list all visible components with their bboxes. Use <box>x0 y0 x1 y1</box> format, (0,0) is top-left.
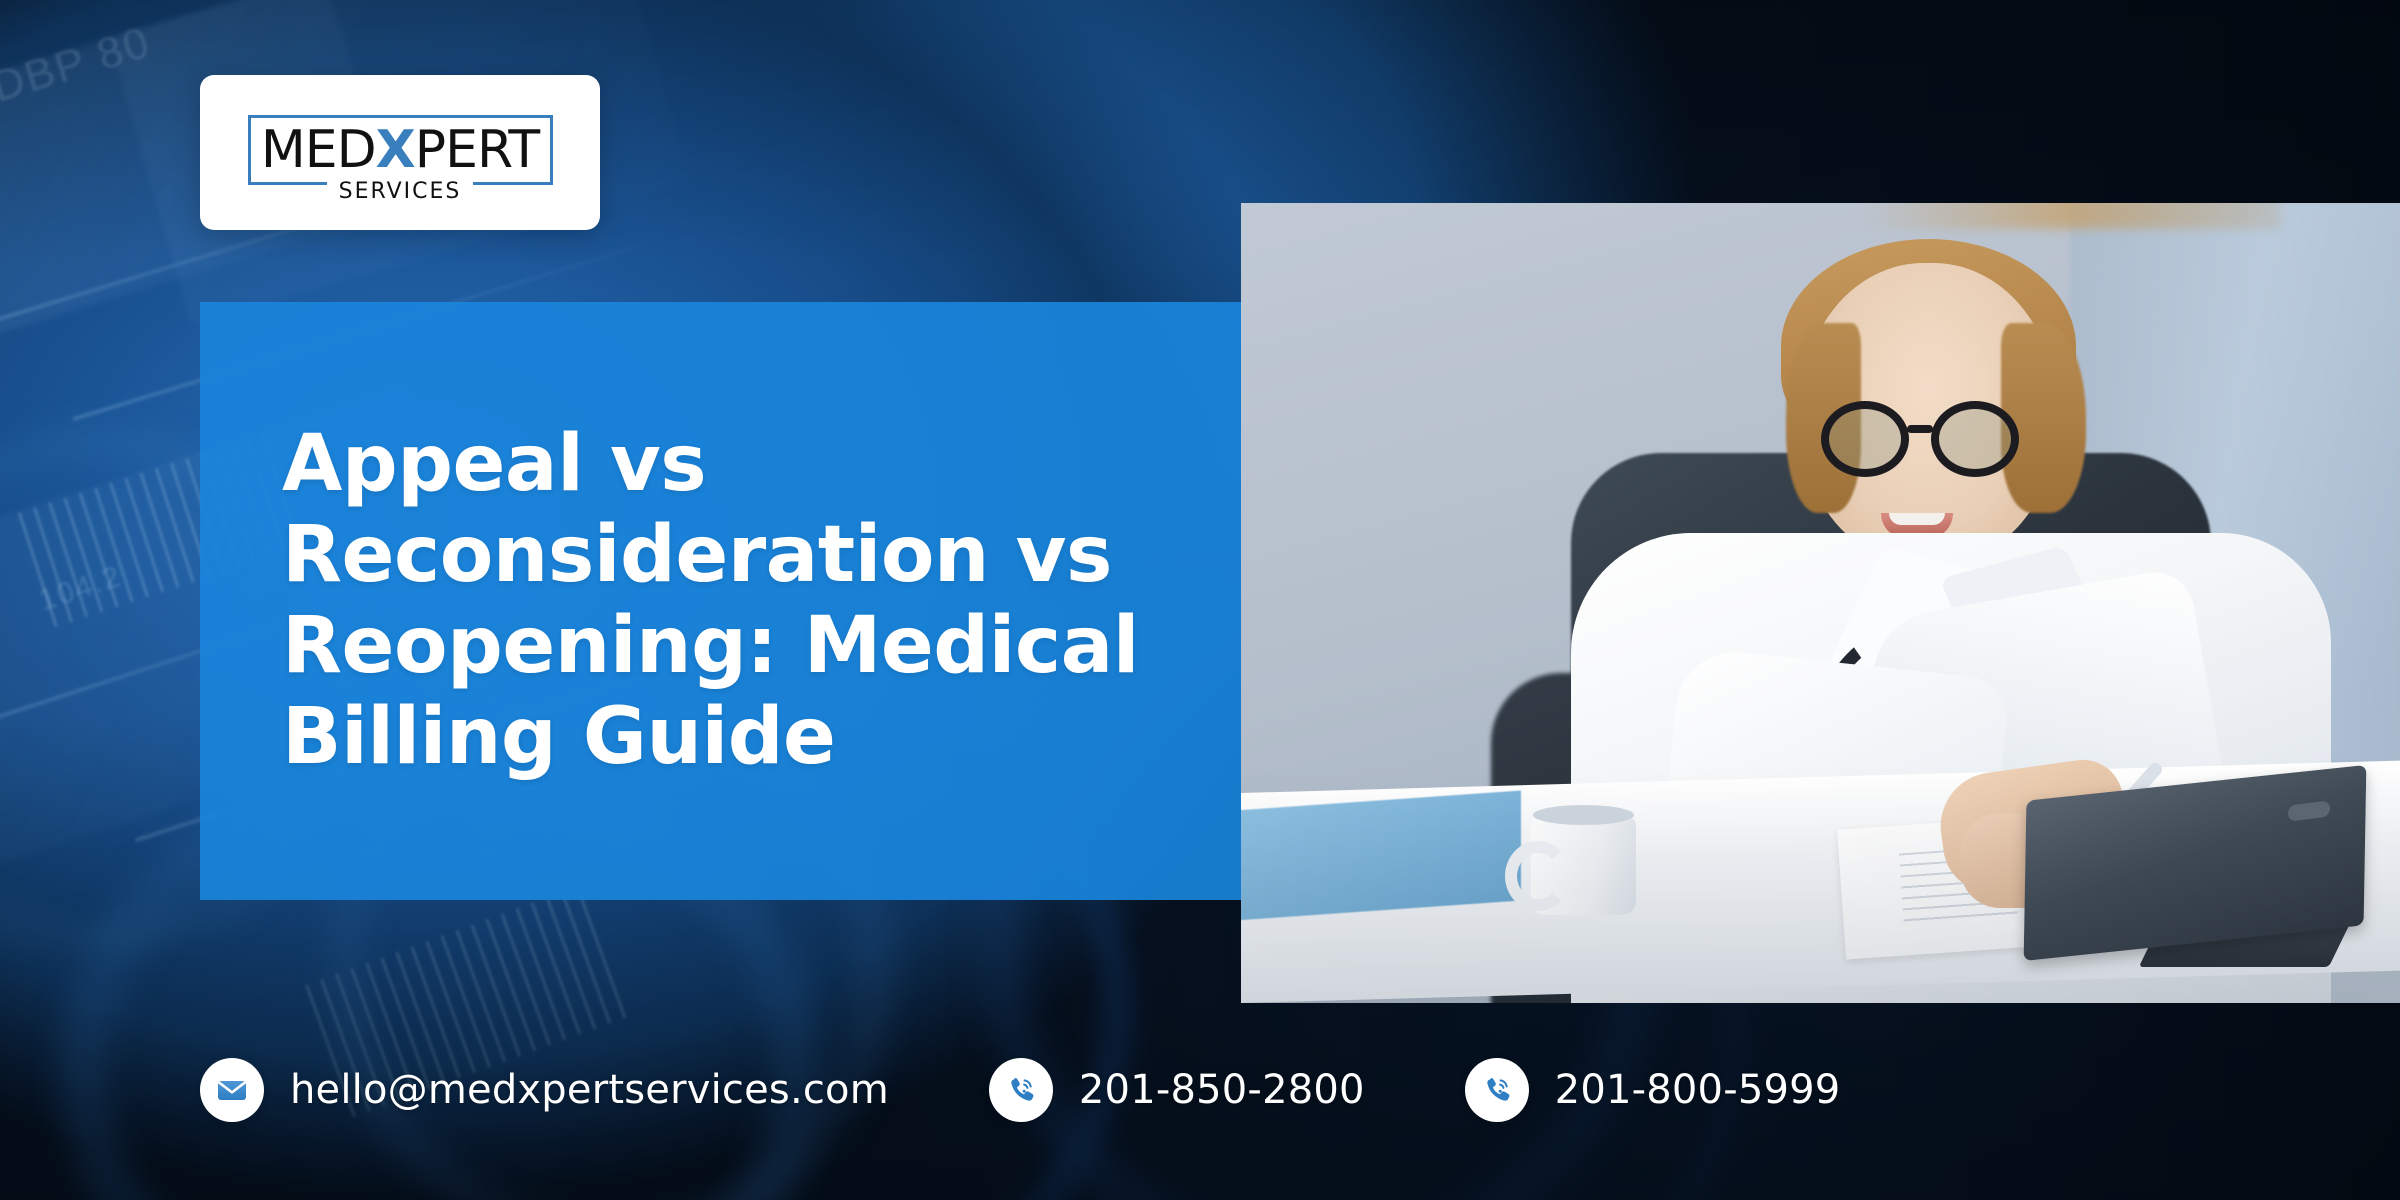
photo-coffee-mug <box>1531 817 1636 915</box>
contact-item-phone-2[interactable]: 201-800-5999 <box>1465 1032 1841 1148</box>
headline-panel: Appeal vs Reconsideration vs Reopening: … <box>200 302 1400 900</box>
photo-glasses-right <box>1931 401 2019 477</box>
logo-inner: MEDXPERT SERVICES <box>248 107 553 199</box>
logo-word-x: X <box>376 124 415 176</box>
headline-line-4: Billing Guide <box>282 692 835 782</box>
photo-warm-light <box>1860 203 2280 229</box>
photo-teeth <box>1889 513 1945 525</box>
photo-mug-rim <box>1533 805 1634 825</box>
headline-line-3: Reopening: Medical <box>282 601 1139 691</box>
headline-line-2: Reconsideration vs <box>282 510 1112 600</box>
photo-hair-side-right <box>2001 323 2086 513</box>
photo-glasses-bridge <box>1907 425 1933 433</box>
logo-wordmark: MEDXPERT <box>248 115 553 185</box>
photo-glasses-left <box>1821 401 1909 477</box>
headline-line-1: Appeal vs <box>282 419 706 509</box>
contact-item-email[interactable]: hello@medxpertservices.com <box>200 1032 889 1148</box>
contact-item-phone-1[interactable]: 201-850-2800 <box>989 1032 1365 1148</box>
contact-email-text: hello@medxpertservices.com <box>290 1067 889 1113</box>
page-title: Appeal vs Reconsideration vs Reopening: … <box>200 419 1217 784</box>
phone-icon <box>1465 1058 1529 1122</box>
contact-phone-1-text: 201-850-2800 <box>1079 1067 1365 1113</box>
photo-folder <box>1241 791 1521 922</box>
brand-logo[interactable]: MEDXPERT SERVICES <box>200 75 600 230</box>
email-icon <box>200 1058 264 1122</box>
logo-word-pert: PERT <box>415 124 539 176</box>
logo-word-med: MED <box>261 124 376 176</box>
phone-icon <box>989 1058 1053 1122</box>
logo-subtitle: SERVICES <box>327 181 474 203</box>
doctor-photo <box>1241 203 2400 1003</box>
contact-bar: hello@medxpertservices.com 201-850-2800 … <box>200 1032 1840 1148</box>
contact-phone-2-text: 201-800-5999 <box>1555 1067 1841 1113</box>
logo-subtitle-wrap: SERVICES <box>248 181 553 203</box>
